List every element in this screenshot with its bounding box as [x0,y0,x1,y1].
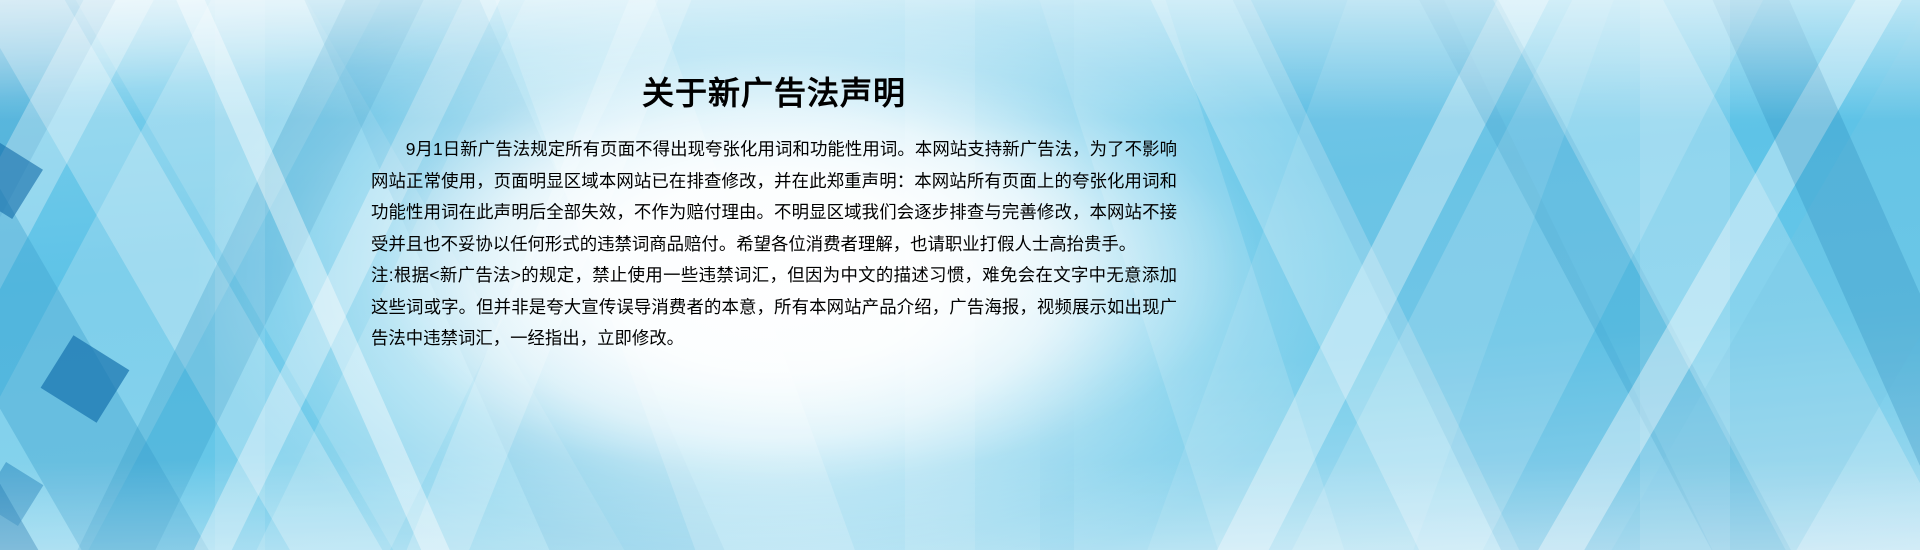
background-diagonal-band [1127,0,1824,550]
background-diagonal-band [1624,0,1920,550]
page-title: 关于新广告法声明 [371,74,1177,112]
background-diagonal-band [0,0,253,550]
background-vertical-streak [1640,0,1730,550]
background-diamond-accent [0,139,43,219]
background-diagonal-band [1375,0,1920,550]
background-diagonal-band [0,0,263,550]
background-diagonal-band [1491,0,1920,550]
background-diagonal-band [1101,0,1664,550]
background-diagonal-band [0,0,135,550]
background-diagonal-band [0,0,184,550]
background-diagonal-band [1304,0,1906,550]
background-diamond-accent [0,462,43,526]
background-diagonal-band [1415,0,1920,550]
background-diagonal-band [1177,0,1873,550]
statement-paragraph: 9月1日新广告法规定所有页面不得出现夸张化用词和功能性用词。本网站支持新广告法，… [371,134,1177,260]
statement-paragraph: 注:根据<新广告法>的规定，禁止使用一些违禁词汇，但因为中文的描述习惯，难免会在… [371,260,1177,355]
background-diamond-accent [41,335,130,423]
advertising-law-statement-banner: 关于新广告法声明 9月1日新广告法规定所有页面不得出现夸张化用词和功能性用词。本… [0,0,1920,550]
statement-content: 关于新广告法声明 9月1日新广告法规定所有页面不得出现夸张化用词和功能性用词。本… [371,74,1177,355]
background-bottom-highlight [0,460,1920,550]
background-vertical-streak [215,0,265,550]
